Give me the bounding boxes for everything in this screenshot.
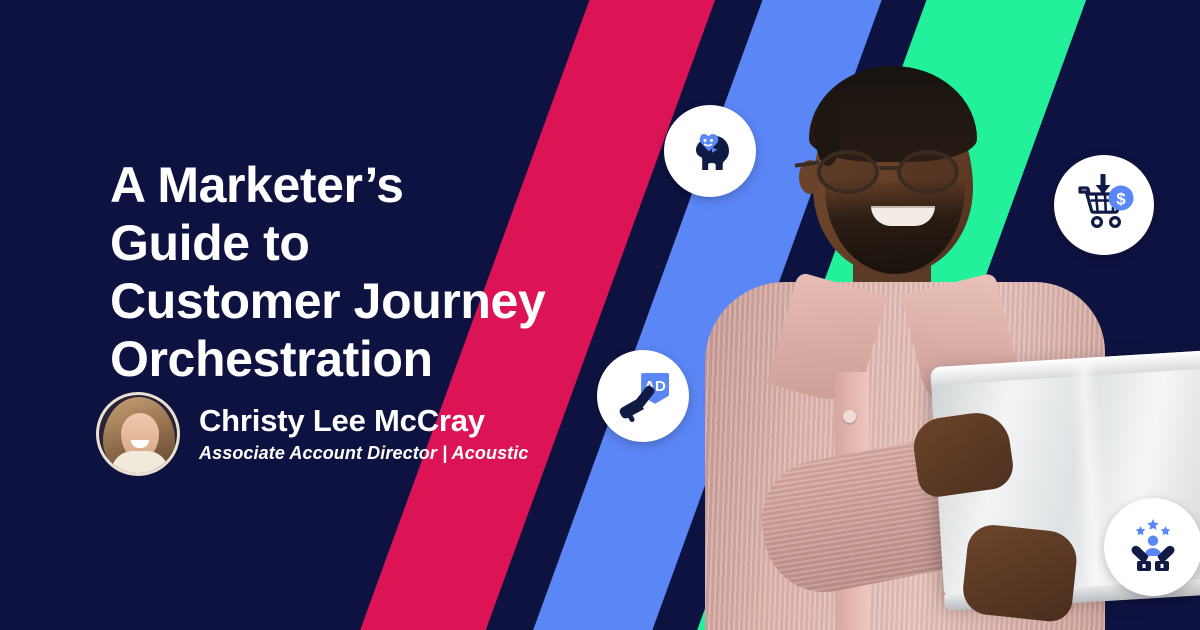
author-name: Christy Lee McCray <box>199 404 528 438</box>
hands-customer-icon <box>1123 517 1183 577</box>
smile <box>871 206 935 226</box>
svg-text:$: $ <box>1116 190 1126 209</box>
badge-head-heart <box>664 105 756 197</box>
cart-dollar-icon: $ <box>1073 174 1135 236</box>
badge-megaphone-ad: AD <box>597 350 689 442</box>
megaphone-ad-icon: AD <box>614 367 672 425</box>
glasses-icon <box>811 150 983 194</box>
head-heart-icon <box>682 123 738 179</box>
avatar <box>96 392 180 476</box>
hand-upper <box>910 409 1016 500</box>
title-line-1: A Marketer’s <box>110 156 580 214</box>
page-title: A Marketer’s Guide to Customer Journey O… <box>110 156 580 388</box>
social-card: A Marketer’s Guide to Customer Journey O… <box>0 0 1200 630</box>
badge-hands-customer <box>1104 498 1200 596</box>
hair <box>809 66 977 162</box>
title-line-4: Orchestration <box>110 330 580 388</box>
badge-cart-dollar: $ <box>1054 155 1154 255</box>
shirt-button <box>843 410 856 423</box>
author-role: Associate Account Director | Acoustic <box>199 441 528 465</box>
title-line-2: Guide to <box>110 214 580 272</box>
hand-lower <box>961 522 1080 623</box>
author-byline: Christy Lee McCray Associate Account Dir… <box>96 392 528 476</box>
title-line-3: Customer Journey <box>110 272 580 330</box>
